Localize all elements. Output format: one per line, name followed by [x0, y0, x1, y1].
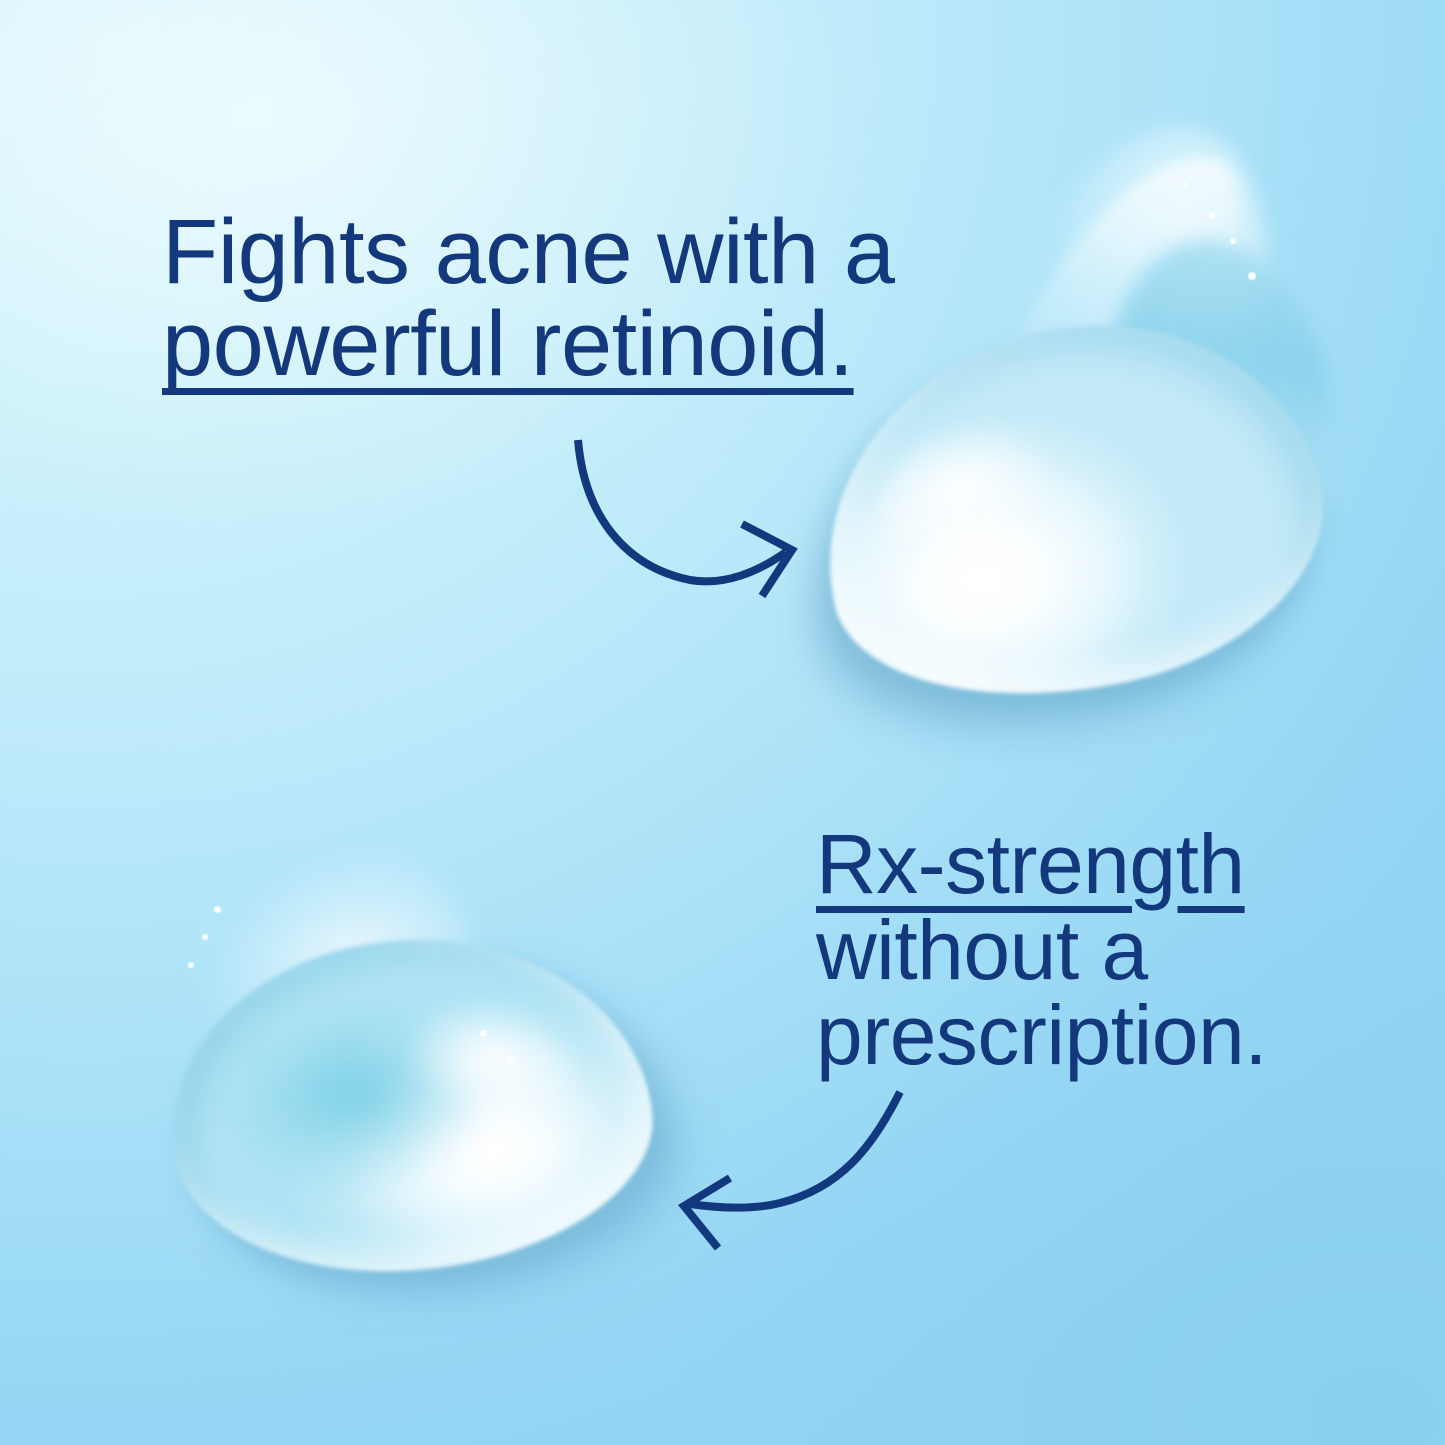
sparkle-dot [202, 934, 208, 940]
sparkle-dot [508, 1058, 514, 1064]
headline-bottom-line-1-underlined: Rx-strength [816, 822, 1267, 908]
headline-bottom-line-2: without a [816, 908, 1267, 994]
headline-bottom-line-3: prescription. [816, 993, 1267, 1079]
cream-swatch-gloss [389, 991, 612, 1160]
sparkle-dot [188, 962, 194, 968]
product-benefit-graphic: Fights acne with a powerful retinoid. Rx… [0, 0, 1445, 1445]
sparkle-dot [480, 1030, 487, 1037]
cream-swatch-tail [978, 95, 1308, 505]
cream-swatch-tail-highlight [988, 130, 1282, 455]
cream-swatch-gloss [852, 388, 1117, 602]
headline-top-line-1: Fights acne with a [162, 206, 894, 298]
cream-swatch-hook [1083, 229, 1346, 581]
cream-swatch-body [154, 916, 666, 1294]
sparkle-dot [214, 906, 221, 913]
cream-swatch-lower-left [150, 850, 710, 1330]
headline-bottom: Rx-strength without a prescription. [816, 822, 1267, 1079]
headline-top-line-2-underlined: powerful retinoid. [162, 298, 894, 390]
headline-top: Fights acne with a powerful retinoid. [162, 206, 894, 390]
cream-swatch-tail [163, 812, 497, 1108]
sparkle-dot [975, 525, 982, 532]
sparkle-dot [1248, 272, 1256, 280]
sparkle-dot [1208, 212, 1215, 219]
sparkle-dot [1230, 238, 1236, 244]
cream-swatch-teal-core [203, 974, 507, 1216]
sparkle-dot [940, 562, 946, 568]
sparkle-dot [1182, 182, 1187, 187]
